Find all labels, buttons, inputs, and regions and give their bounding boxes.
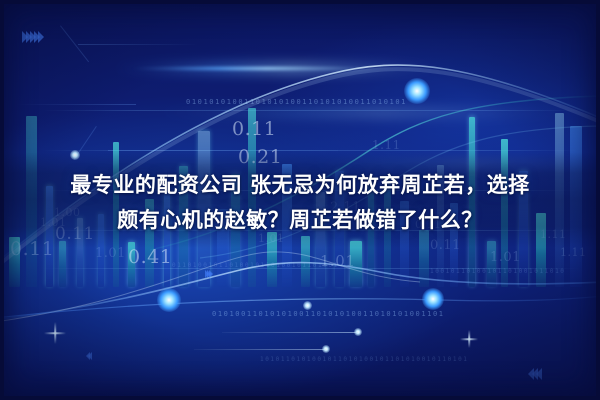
vignette-overlay [0, 0, 600, 400]
promotional-banner: 0.110.210.410.110.111.001.011.011.112.11… [0, 0, 600, 400]
